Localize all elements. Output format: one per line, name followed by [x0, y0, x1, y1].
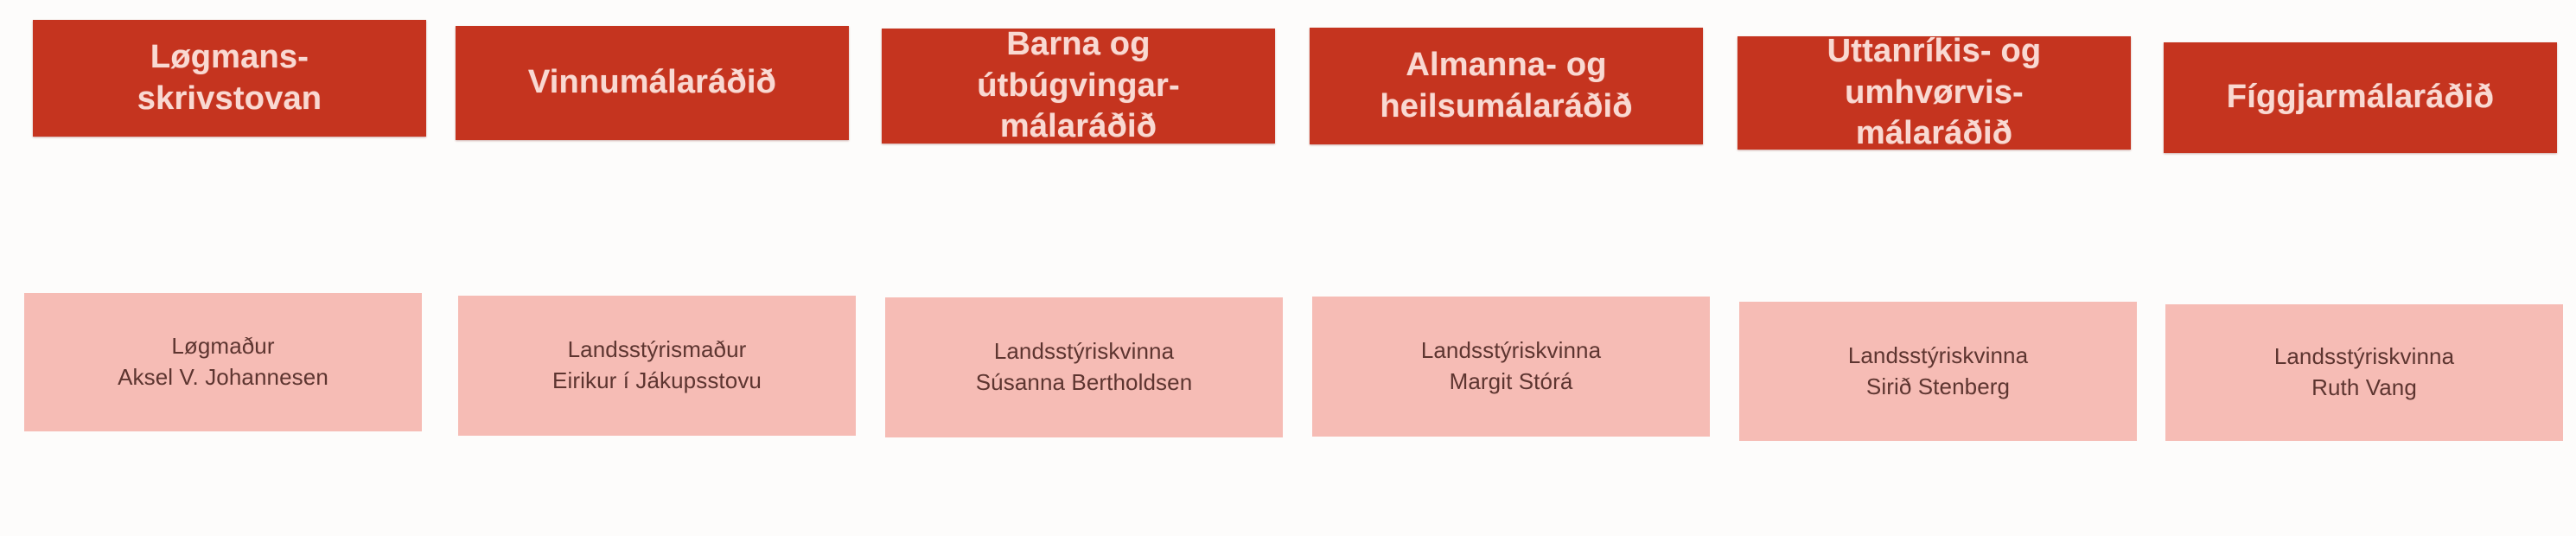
ministry-name-6: Fíggjarmálaráðið [2227, 77, 2494, 118]
person-name-4: Landsstýriskvinna Margit Stórá [1421, 335, 1601, 398]
person-name-2: Landsstýrismaður Eirikur í Jákupsstovu [552, 335, 762, 397]
ministry-box-5[interactable]: Uttanríkis- og umhvørvis- málaráðið [1738, 36, 2131, 150]
person-name-3: Landsstýriskvinna Súsanna Bertholdsen [976, 336, 1193, 399]
ministry-box-6[interactable]: Fíggjarmálaráðið [2164, 42, 2557, 153]
person-name-6: Landsstýriskvinna Ruth Vang [2274, 341, 2454, 404]
ministry-box-4[interactable]: Almanna- og heilsumálaráðið [1310, 28, 1703, 144]
person-box-6[interactable]: Landsstýriskvinna Ruth Vang [2165, 304, 2563, 441]
ministry-name-1: Løgmans- skrivstovan [137, 37, 322, 120]
person-box-1[interactable]: Løgmaður Aksel V. Johannesen [24, 293, 422, 431]
ministry-name-3: Barna og útbúgvingar- málaráðið [977, 24, 1180, 149]
ministry-box-2[interactable]: Vinnumálaráðið [456, 26, 849, 140]
person-box-5[interactable]: Landsstýriskvinna Sirið Stenberg [1739, 302, 2137, 441]
person-box-2[interactable]: Landsstýrismaður Eirikur í Jákupsstovu [458, 296, 856, 436]
org-chart: Løgmans- skrivstovan Løgmaður Aksel V. J… [0, 0, 2576, 536]
person-name-5: Landsstýriskvinna Sirið Stenberg [1848, 341, 2028, 403]
ministry-name-5: Uttanríkis- og umhvørvis- málaráðið [1827, 31, 2042, 156]
person-name-1: Løgmaður Aksel V. Johannesen [118, 331, 328, 393]
ministry-box-1[interactable]: Løgmans- skrivstovan [33, 20, 426, 137]
person-box-3[interactable]: Landsstýriskvinna Súsanna Bertholdsen [885, 297, 1283, 437]
ministry-box-3[interactable]: Barna og útbúgvingar- málaráðið [882, 29, 1275, 144]
ministry-name-2: Vinnumálaráðið [528, 62, 776, 104]
person-box-4[interactable]: Landsstýriskvinna Margit Stórá [1312, 297, 1710, 437]
ministry-name-4: Almanna- og heilsumálaráðið [1380, 45, 1632, 128]
